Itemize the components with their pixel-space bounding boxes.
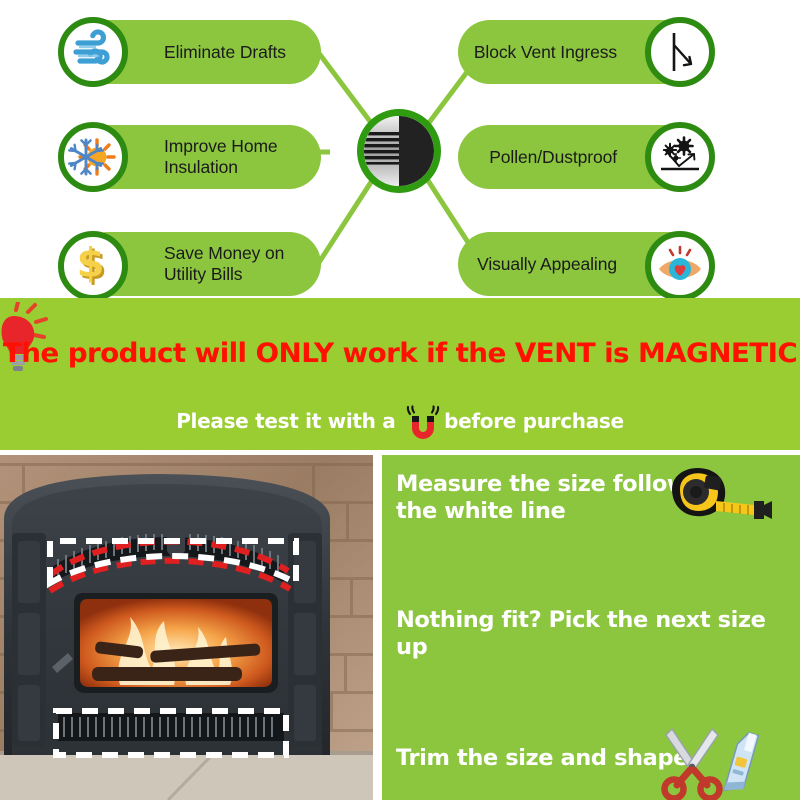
eye-heart-icon — [645, 231, 715, 301]
svg-text:$: $ — [77, 241, 105, 287]
utility-knife-icon — [724, 731, 758, 796]
benefit-label: Improve Home Insulation — [164, 136, 307, 177]
magnetic-vent-cover-hub[interactable] — [357, 109, 441, 193]
fireplace-illustration — [0, 455, 373, 800]
instruction-text: Measure the size follow the white line — [396, 471, 687, 524]
banner-subline: Please test it with a before purchase — [0, 398, 800, 444]
snowflake-sun-icon — [58, 122, 128, 192]
benefit-label: Block Vent Ingress — [474, 42, 617, 63]
instruction-step-size-up: Nothing fit? Pick the next size up — [396, 607, 786, 660]
fireplace-insert-photo — [0, 455, 373, 800]
scissors-and-utility-knife-icon — [650, 721, 790, 800]
banner-subline-before: Please test it with a — [176, 409, 402, 433]
wind-icon — [58, 17, 128, 87]
pollen-bounce-icon — [645, 122, 715, 192]
benefit-label: Visually Appealing — [477, 254, 617, 275]
instruction-text: Trim the size and shape — [396, 745, 688, 771]
hub-graphic — [364, 116, 434, 186]
benefit-label: Eliminate Drafts — [164, 42, 286, 63]
tape-measure-icon — [660, 461, 780, 525]
instruction-text: Nothing fit? Pick the next size up — [396, 607, 766, 660]
benefit-label: Save Money on Utility Bills — [164, 243, 284, 284]
benefit-label: Pollen/Dustproof — [489, 147, 617, 168]
dollar-sign-icon: $ $ — [58, 231, 128, 301]
deflect-arrow-icon — [645, 17, 715, 87]
benefits-diagram: Eliminate Drafts Improve Home Insulation — [0, 0, 800, 298]
horseshoe-magnet-icon — [403, 403, 443, 443]
banner-headline: The product will ONLY work if the VENT i… — [0, 338, 800, 369]
magnetic-warning-banner: The product will ONLY work if the VENT i… — [0, 298, 800, 450]
hub-split-graphic — [364, 116, 434, 186]
scissors-icon — [665, 729, 720, 799]
infographic-page: Eliminate Drafts Improve Home Insulation — [0, 0, 800, 800]
banner-subline-after: before purchase — [444, 409, 624, 433]
instructions-panel: Measure the size follow the white line N… — [382, 455, 800, 800]
